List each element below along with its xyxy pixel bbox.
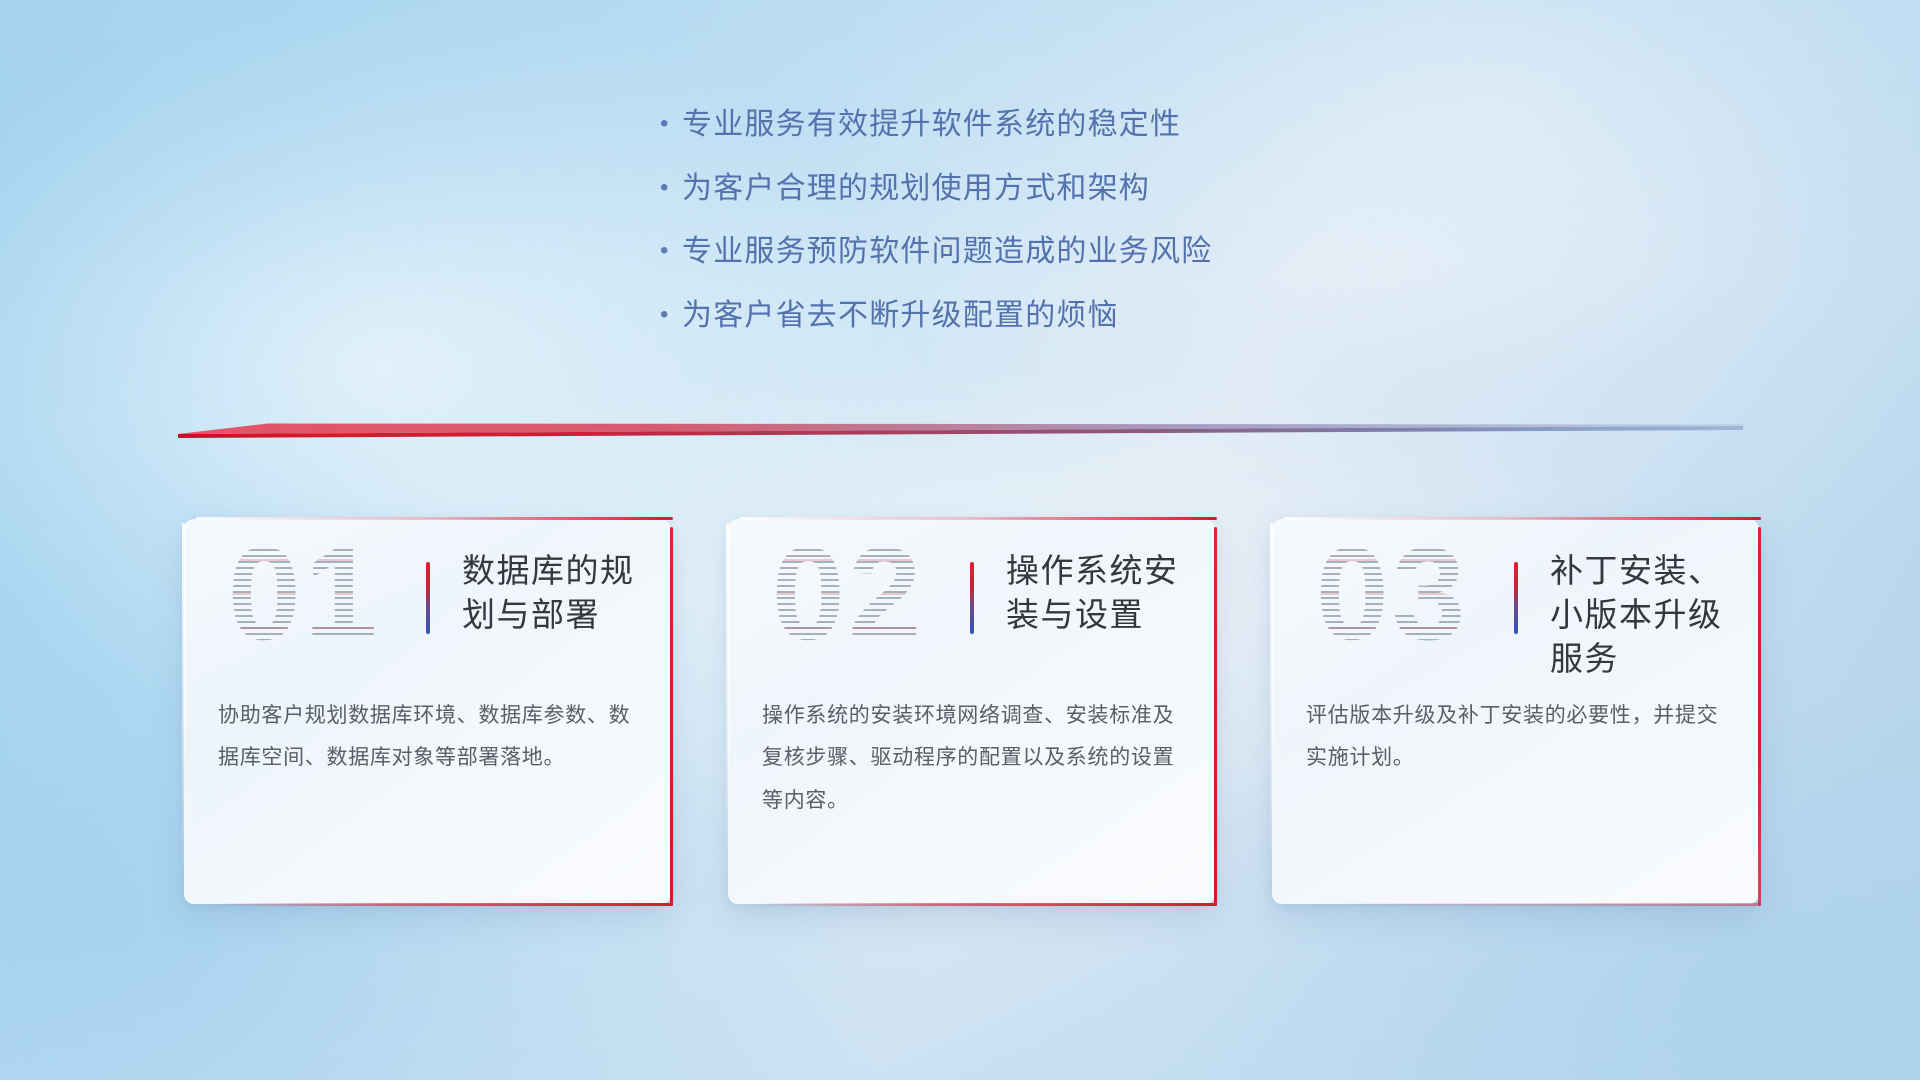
service-card-02[interactable]: 02 02 操作系统安装与设置 操作系统的安装环境网络调查、安装标准及复核步骤、… [728, 519, 1215, 904]
service-card-03[interactable]: 03 03 补丁安装、小版本升级服务 评估版本升级及补丁安装的必要性，并提交实施… [1272, 519, 1759, 904]
bullet-text: 为客户省去不断升级配置的烦恼 [682, 297, 1119, 335]
list-item: 专业服务有效提升软件系统的稳定性 [660, 106, 1212, 144]
card-header: 02 02 操作系统安装与设置 [728, 519, 1215, 671]
bullet-text: 专业服务预防软件问题造成的业务风险 [682, 233, 1212, 271]
card-number-ghost-tint: 02 [748, 525, 948, 663]
benefits-bullet-list: 专业服务有效提升软件系统的稳定性 为客户合理的规划使用方式和架构 专业服务预防软… [660, 106, 1212, 334]
service-card-list: 01 01 数据库的规划与部署 协助客户规划数据库环境、数据库参数、数据库空间、… [184, 519, 1759, 904]
card-header: 01 01 数据库的规划与部署 [184, 519, 671, 671]
card-title: 操作系统安装与设置 [1006, 549, 1195, 637]
bullet-text: 专业服务有效提升软件系统的稳定性 [682, 106, 1181, 144]
card-body-text: 评估版本升级及补丁安装的必要性，并提交实施计划。 [1306, 695, 1729, 780]
bullet-dot-icon [660, 303, 682, 327]
bullet-text: 为客户合理的规划使用方式和架构 [682, 170, 1150, 208]
list-item: 为客户合理的规划使用方式和架构 [660, 170, 1212, 208]
list-item: 专业服务预防软件问题造成的业务风险 [660, 233, 1212, 271]
section-divider [178, 415, 1743, 439]
card-body-text: 协助客户规划数据库环境、数据库参数、数据库空间、数据库对象等部署落地。 [218, 695, 641, 780]
card-title-accent-bar [970, 562, 974, 634]
service-card-01[interactable]: 01 01 数据库的规划与部署 协助客户规划数据库环境、数据库参数、数据库空间、… [184, 519, 671, 904]
bullet-dot-icon [660, 112, 682, 136]
bullet-dot-icon [660, 176, 682, 200]
card-body-text: 操作系统的安装环境网络调查、安装标准及复核步骤、驱动程序的配置以及系统的设置等内… [762, 695, 1185, 822]
card-number-ghost-tint: 01 [204, 525, 404, 663]
card-title: 数据库的规划与部署 [462, 549, 651, 637]
card-number-ghost-tint: 03 [1292, 525, 1492, 663]
card-header: 03 03 补丁安装、小版本升级服务 [1272, 519, 1759, 671]
bullet-dot-icon [660, 239, 682, 263]
card-title-accent-bar [1514, 562, 1518, 634]
card-title-accent-bar [426, 562, 430, 634]
list-item: 为客户省去不断升级配置的烦恼 [660, 297, 1212, 335]
card-title: 补丁安装、小版本升级服务 [1550, 549, 1739, 681]
